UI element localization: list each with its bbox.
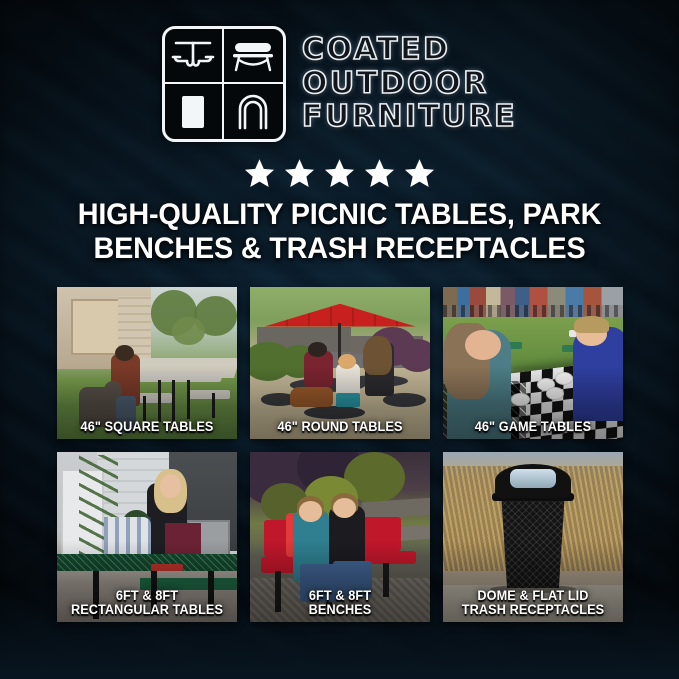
star-icon [403, 157, 436, 190]
park-bench-icon [224, 29, 283, 84]
caption-line-1: 6FT & 8FT [259, 589, 421, 603]
product-tile-trash-receptacles[interactable]: DOME & FLAT LID TRASH RECEPTACLES [443, 452, 623, 622]
product-tile-game-tables[interactable]: 46" GAME TABLES [443, 287, 623, 439]
product-tile-square-tables[interactable]: 46" SQUARE TABLES [57, 287, 237, 439]
star-icon [243, 157, 276, 190]
brand-logo: COATED OUTDOOR FURNITURE [0, 26, 679, 142]
brand-wordmark: COATED OUTDOOR FURNITURE [302, 34, 517, 133]
brand-line-1: COATED [302, 34, 517, 66]
product-tile-rectangular-tables[interactable]: 6FT & 8FT RECTANGULAR TABLES [57, 452, 237, 622]
brand-line-3: FURNITURE [302, 101, 517, 133]
brand-line-2: OUTDOOR [302, 68, 517, 100]
caption-line-1: 46" GAME TABLES [452, 420, 614, 434]
product-tile-benches[interactable]: 6FT & 8FT BENCHES [250, 452, 430, 622]
logo-icon-grid [162, 26, 286, 142]
product-caption: DOME & FLAT LID TRASH RECEPTACLES [452, 589, 614, 617]
product-caption: 46" GAME TABLES [452, 420, 614, 434]
trash-receptacle-icon [165, 84, 224, 139]
star-rating [0, 157, 679, 190]
caption-line-1: DOME & FLAT LID [452, 589, 614, 603]
product-caption: 6FT & 8FT BENCHES [259, 589, 421, 617]
product-photo [443, 287, 623, 439]
headline-line-2: BENCHES & TRASH RECEPTACLES [46, 232, 633, 266]
star-icon [283, 157, 316, 190]
promotional-poster: COATED OUTDOOR FURNITURE HIGH-QUALITY PI… [0, 0, 679, 679]
caption-line-1: 46" ROUND TABLES [259, 420, 421, 434]
caption-line-2: TRASH RECEPTACLES [452, 603, 614, 617]
product-caption: 46" SQUARE TABLES [66, 420, 228, 434]
caption-line-2: BENCHES [259, 603, 421, 617]
product-grid: 46" SQUARE TABLES [57, 287, 623, 622]
bike-rack-icon [224, 84, 283, 139]
caption-line-1: 46" SQUARE TABLES [66, 420, 228, 434]
product-caption: 46" ROUND TABLES [259, 420, 421, 434]
product-photo [250, 287, 430, 439]
product-tile-round-tables[interactable]: 46" ROUND TABLES [250, 287, 430, 439]
product-photo [57, 287, 237, 439]
caption-line-1: 6FT & 8FT [66, 589, 228, 603]
star-icon [323, 157, 356, 190]
picnic-table-icon [165, 29, 224, 84]
product-caption: 6FT & 8FT RECTANGULAR TABLES [66, 589, 228, 617]
headline-line-1: HIGH-QUALITY PICNIC TABLES, PARK [46, 198, 633, 232]
caption-line-2: RECTANGULAR TABLES [66, 603, 228, 617]
star-icon [363, 157, 396, 190]
page-title: HIGH-QUALITY PICNIC TABLES, PARK BENCHES… [46, 198, 633, 266]
